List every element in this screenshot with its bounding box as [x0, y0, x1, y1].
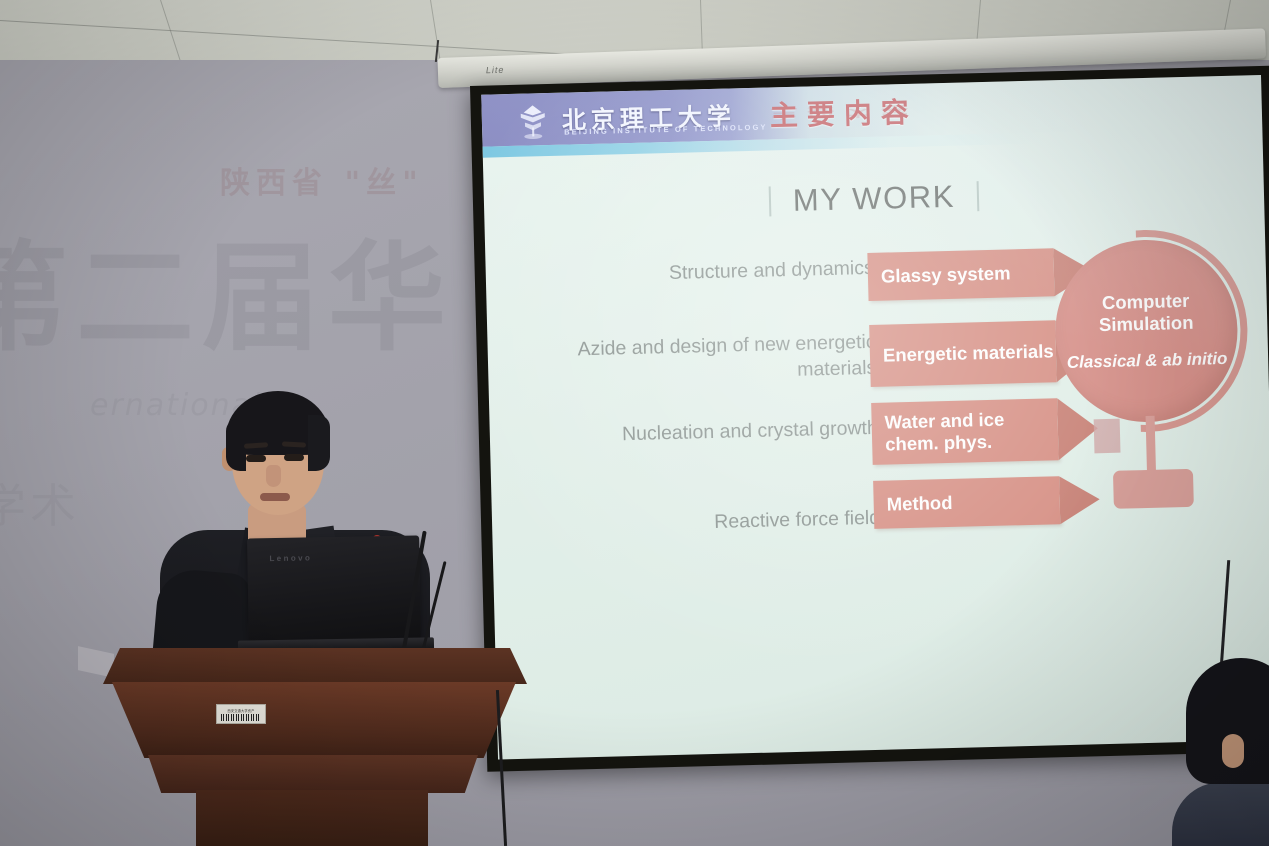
barcode-lines-icon — [221, 714, 261, 721]
globe-stand-stem — [1146, 416, 1156, 474]
globe-graphic: Computer Simulation Classical & ab initi… — [1045, 223, 1269, 558]
presenter-hair-side-right — [308, 415, 330, 471]
presenter-nose — [266, 465, 281, 487]
podium-mid-band — [148, 755, 478, 793]
presenter-eye — [246, 455, 266, 462]
globe-secondary-label: Classical & ab initio — [1067, 349, 1228, 373]
banner-line-2: 第二届华 — [0, 202, 454, 373]
audience-ear — [1222, 734, 1244, 768]
podium-top — [103, 648, 527, 684]
bit-logo-icon — [511, 99, 554, 142]
banner-line-1: 陕西省 "丝" — [220, 158, 424, 202]
laptop[interactable]: Lenovo — [247, 536, 421, 647]
roller-brand-label: Lite — [486, 65, 505, 76]
chevron-arrow: Method — [873, 476, 1060, 529]
globe-primary-label: Computer Simulation — [1054, 288, 1237, 337]
slide-title-row: MY WORK — [484, 171, 1265, 227]
topic-label: Reactive force field — [540, 505, 881, 540]
audience-shoulder — [1172, 782, 1269, 846]
laptop-brand-label: Lenovo — [269, 553, 312, 563]
presentation-slide: 北京理工大学 BEIJING INSTITUTE OF TECHNOLOGY 主… — [481, 75, 1269, 760]
topic-label: Structure and dynamics — [534, 255, 875, 290]
chevron-arrow: Energetic materials — [869, 320, 1057, 387]
globe-stand-base — [1113, 469, 1194, 509]
podium-column — [196, 790, 428, 846]
slide-section-title-reflection: 主要内容 — [770, 102, 918, 124]
presentation-room-photo: 陕西省 "丝" 第二届华 ernational 学术 Lite — [0, 0, 1269, 846]
podium-body — [112, 682, 516, 758]
topic-label: Nucleation and crystal growth — [538, 415, 879, 450]
chevron-label: Method — [886, 492, 952, 515]
title-divider-left — [769, 186, 772, 216]
title-divider-right — [977, 181, 980, 211]
topic-label: Azide and design of new energetic materi… — [535, 329, 876, 390]
chevron-label: Water and ice chem. phys. — [884, 407, 1058, 455]
banner-line-4: 学术 — [0, 470, 80, 536]
projection-screen: 北京理工大学 BEIJING INSTITUTE OF TECHNOLOGY 主… — [470, 66, 1269, 776]
asset-tag-text: 西安交通大学资产 — [227, 708, 254, 713]
asset-tag-barcode: 西安交通大学资产 — [216, 704, 266, 724]
screen-frame: 北京理工大学 BEIJING INSTITUTE OF TECHNOLOGY 主… — [470, 66, 1269, 772]
page-title: MY WORK — [792, 179, 955, 219]
chevron-label: Energetic materials — [883, 340, 1054, 366]
chevron-arrow: Water and ice chem. phys. — [871, 398, 1059, 465]
presenter-eye — [284, 454, 304, 461]
topic-label-list: Structure and dynamics Azide and design … — [526, 255, 874, 264]
chevron-label: Glassy system — [881, 262, 1011, 287]
chevron-arrow: Glassy system — [867, 248, 1054, 301]
audience-member — [1186, 658, 1269, 846]
presenter-mouth — [260, 493, 290, 501]
